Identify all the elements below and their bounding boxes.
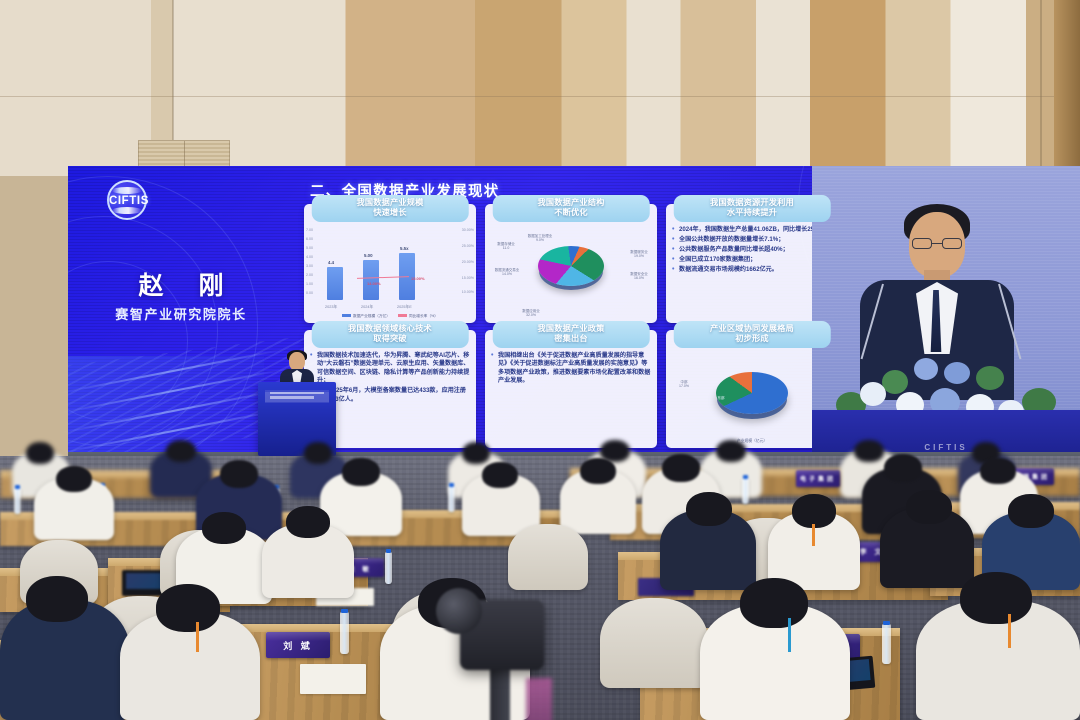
speaker-title: 赛智产业研究院院长 [68,304,294,323]
podium-wordmark: CIFTIS [812,443,1080,452]
bullet-item: 全国已成立170家数据集团； [672,256,834,265]
card-industry-structure: 我国数据产业结构 不断优化 数据存储业11.0 数据流通交易业14.0% 数据服… [485,204,657,323]
card-caption: 我国数据产业政策 密集出台 [493,321,650,348]
card-caption: 我国数据领域核心技术 取得突破 [312,321,469,348]
ciftis-wordmark: CIFTIS [101,195,157,207]
video-podium: CIFTIS [812,410,1080,456]
bullet-list-policy: 我国相继出台《关于促进数据产业高质量发展的指导意见》《关于促进数据标注产业高质量… [491,352,653,446]
card-caption: 我国数据资源开发利用 水平持续提升 [674,195,831,222]
slide-content: 二、全国数据产业发展现状 我国数据产业规模 快速增长 7.00 6.00 5.0… [294,166,844,456]
lanyard [812,524,815,546]
bullet-item: 我国相继出台《关于促进数据产业高质量发展的指导意见》《关于促进数据标注产业高质量… [491,352,653,387]
card-industry-policy: 我国数据产业政策 密集出台 我国相继出台《关于促进数据产业高质量发展的指导意见》… [485,330,657,449]
bullet-item: 公共数据服务产品数量同比增长超40%； [672,246,834,255]
card-industry-scale: 我国数据产业规模 快速增长 7.00 6.00 5.00 4.00 3.00 2… [304,204,476,323]
water-bottle [882,624,891,664]
bullet-item: 2024年，我国数据生产总量41.06ZB，同比增长25%； [672,226,834,235]
ciftis-logo: CIFTIS [101,178,157,222]
glasses-icon [912,238,962,249]
document-paper [300,664,366,694]
stage-podium [258,352,336,456]
bar-chart-legend: 数据产业规模（万亿） 同比增长率（%） [304,314,476,319]
name-placard-liu-bin: 刘 斌 [266,632,330,658]
bullet-item: 全国公共数据开放的数据量增长7.1%； [672,236,834,245]
water-bottle [742,478,749,504]
card-caption: 我国数据产业规模 快速增长 [312,195,469,222]
lanyard [788,618,791,652]
hall-back-wall [0,0,1080,176]
stage-light-streaks [68,356,264,456]
speaker-name: 赵 刚 [68,266,294,302]
bullet-item: 数据流通交易市场规模约1662亿元。 [672,266,834,275]
bar-chart-industry-scale: 7.00 6.00 5.00 4.00 3.00 2.00 1.00 0.00 … [304,226,476,320]
lanyard [1008,614,1011,648]
camera-lens-icon [436,588,482,634]
podium-sign [265,390,329,403]
water-bottle [385,552,392,584]
card-caption: 我国数据产业结构 不断优化 [493,195,650,222]
live-speaker-video-feed: CIFTIS [812,166,1080,456]
name-placard: 电子集团 [796,470,840,487]
broadcast-camera [430,560,580,720]
water-bottle [340,612,349,654]
water-bottle [14,488,21,514]
lanyard [196,622,199,652]
card-caption: 产业区域协同发展格局 初步形成 [674,321,831,348]
slide-card-grid: 我国数据产业规模 快速增长 7.00 6.00 5.00 4.00 3.00 2… [304,204,838,448]
pie-chart-industry-structure: 数据存储业11.0 数据流通交易业14.0% 数据服务业19.0% 数据安全业1… [485,226,657,320]
bullet-list-resource: 2024年，我国数据生产总量41.06ZB，同比增长25%； 全国公共数据开放的… [672,226,834,320]
conference-hall-photo: CIFTIS 赵 刚 赛智产业研究院院长 二、全国数据产业发展现状 我国数据产业… [0,0,1080,720]
audience-chair [600,598,708,688]
water-bottle [448,486,455,512]
